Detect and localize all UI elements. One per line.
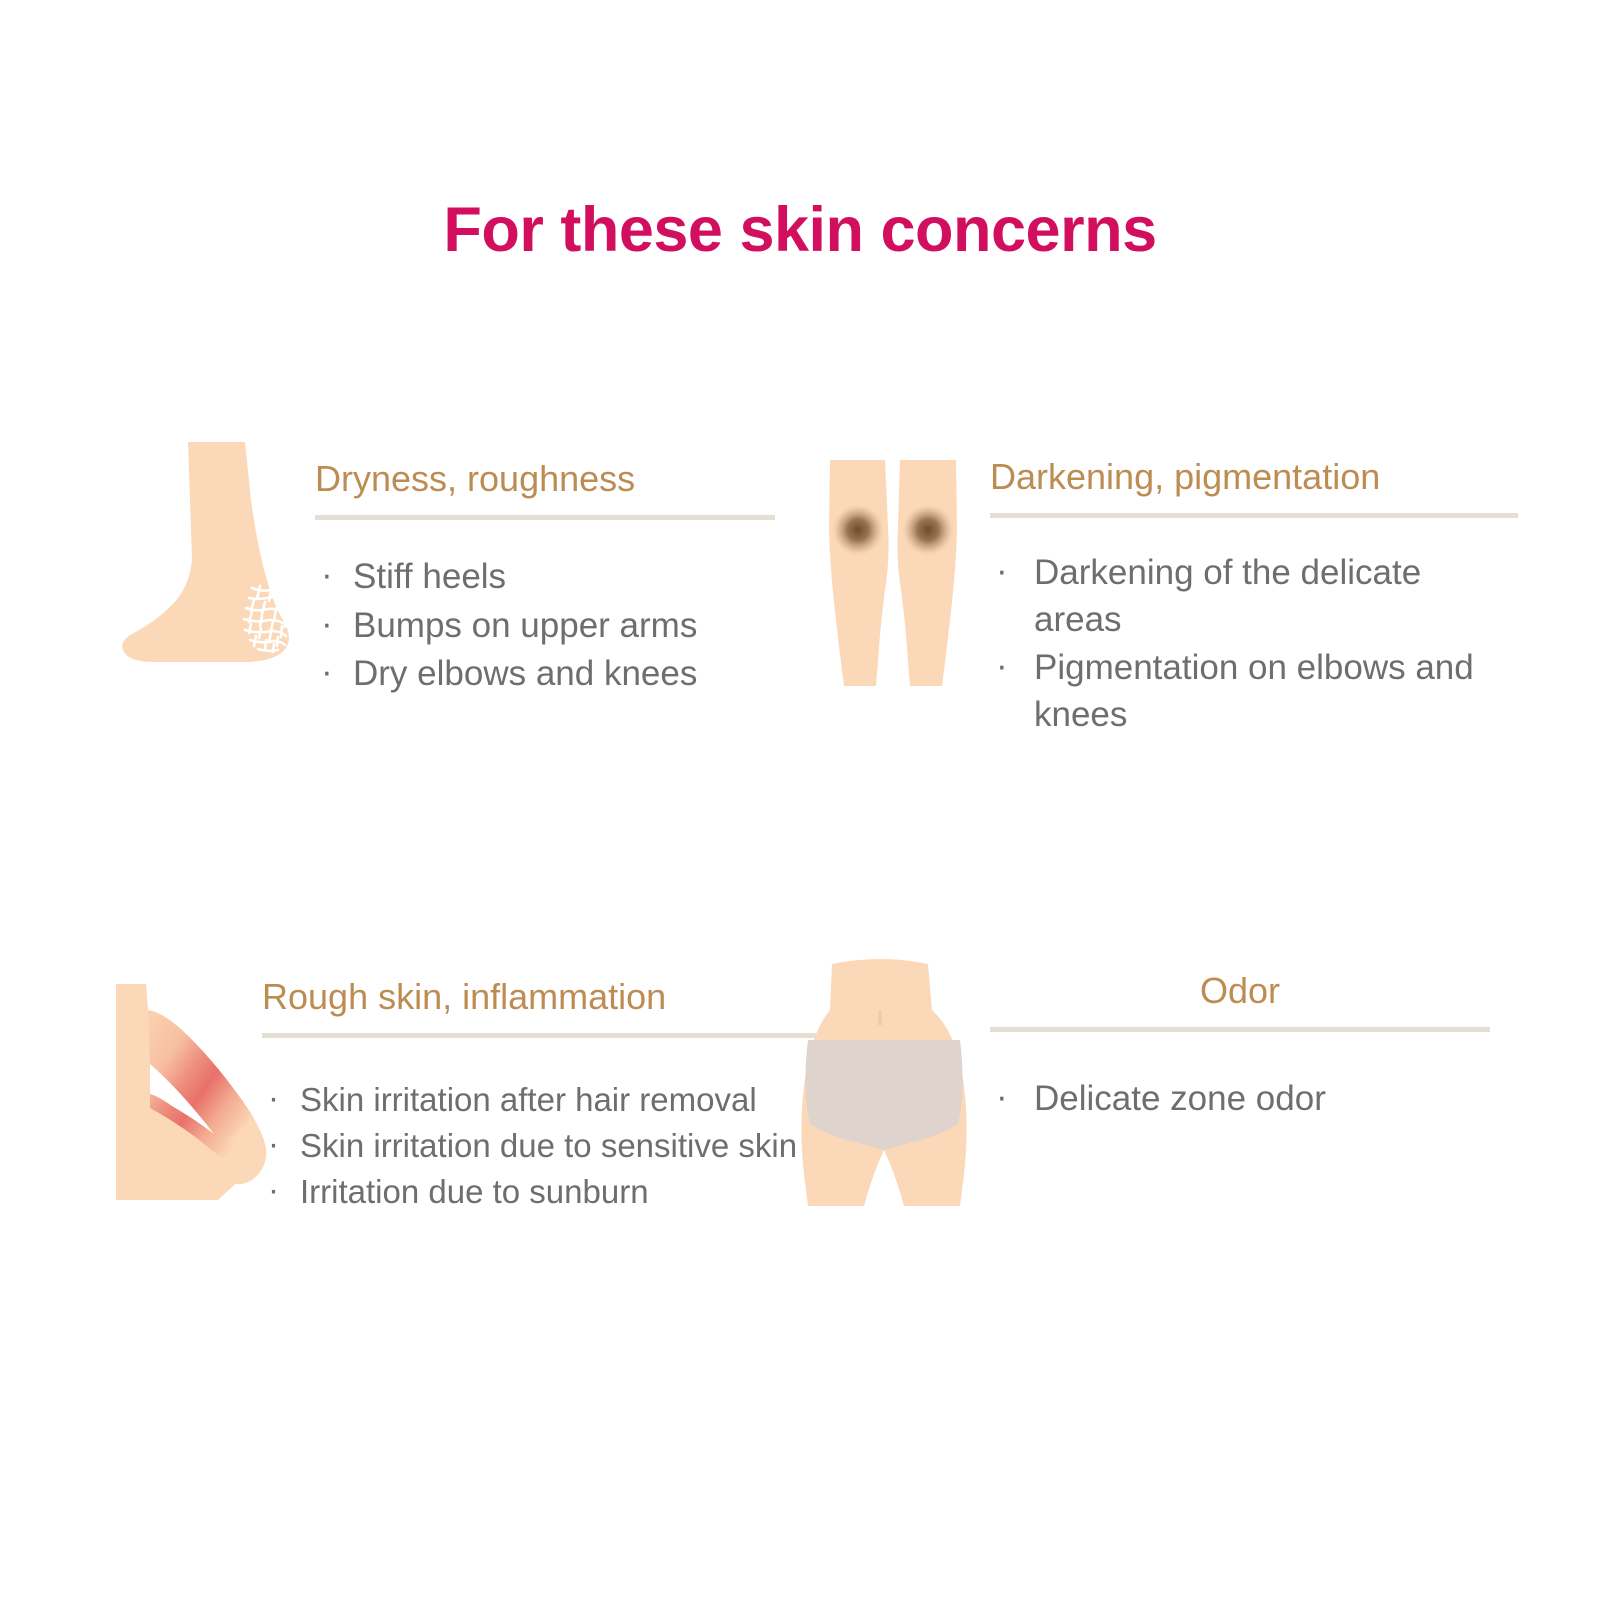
page-title: For these skin concerns bbox=[0, 196, 1600, 265]
heading-divider bbox=[990, 513, 1518, 518]
list-item: Skin irritation due to sensitive skin bbox=[262, 1124, 850, 1168]
concern-bullet-list-dryness: Stiff heels Bumps on upper arms Dry elbo… bbox=[315, 554, 775, 698]
legs-knees-pigmentation-icon bbox=[800, 430, 990, 690]
list-item: Darkening of the delicate areas bbox=[990, 550, 1518, 643]
underwear-shape bbox=[805, 1040, 962, 1150]
concern-text-rough: Rough skin, inflammation Skin irritation… bbox=[262, 976, 850, 1216]
concern-bullet-list-odor: Delicate zone odor bbox=[990, 1076, 1490, 1123]
heading-divider bbox=[315, 515, 775, 520]
list-item: Bumps on upper arms bbox=[315, 603, 775, 650]
list-item: Irritation due to sunburn bbox=[262, 1170, 850, 1214]
heading-divider bbox=[990, 1027, 1490, 1032]
infographic-page: For these skin concerns bbox=[0, 0, 1600, 1600]
concern-bullet-list-rough: Skin irritation after hair removal Skin … bbox=[262, 1078, 850, 1214]
concern-heading-dryness: Dryness, roughness bbox=[315, 458, 775, 499]
list-item: Stiff heels bbox=[315, 554, 775, 601]
hips-underwear-icon bbox=[780, 950, 980, 1210]
concern-heading-odor: Odor bbox=[990, 970, 1490, 1011]
concern-heading-rough: Rough skin, inflammation bbox=[262, 976, 850, 1017]
pigment-spot-left bbox=[831, 503, 885, 557]
list-item: Skin irritation after hair removal bbox=[262, 1078, 850, 1122]
pigment-spot-right bbox=[901, 503, 955, 557]
list-item: Delicate zone odor bbox=[990, 1076, 1490, 1123]
foot-cracked-heel-icon bbox=[110, 440, 310, 690]
list-item: Pigmentation on elbows and knees bbox=[990, 645, 1518, 738]
concern-text-odor: Odor Delicate zone odor bbox=[990, 970, 1490, 1125]
heading-divider bbox=[262, 1033, 850, 1038]
concern-bullet-list-pigmentation: Darkening of the delicate areas Pigmenta… bbox=[990, 550, 1518, 738]
list-item: Dry elbows and knees bbox=[315, 651, 775, 698]
concern-text-pigmentation: Darkening, pigmentation Darkening of the… bbox=[990, 456, 1518, 741]
concern-text-dryness: Dryness, roughness Stiff heels Bumps on … bbox=[315, 458, 775, 700]
concern-heading-pigmentation: Darkening, pigmentation bbox=[990, 456, 1518, 497]
